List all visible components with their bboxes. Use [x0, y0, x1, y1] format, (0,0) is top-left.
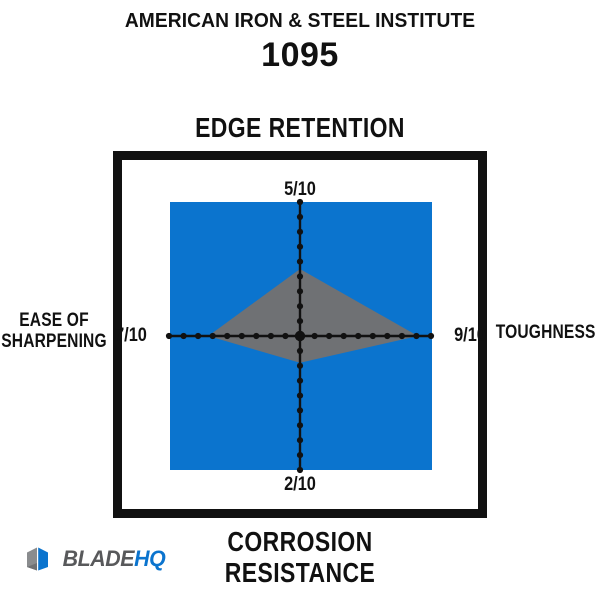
bladehq-logo[interactable]: BLADEHQ: [24, 546, 167, 572]
value-label-corrosion-resistance: 2/10: [257, 475, 343, 495]
bladehq-wordmark: BLADEHQ: [63, 548, 166, 570]
logo-text-blade: BLADE: [63, 546, 135, 571]
chart-origin-dot: [295, 331, 305, 341]
blade-logo-icon: [24, 546, 54, 572]
value-label-ease-of-sharpening: 7/10: [103, 326, 160, 346]
axis-title-ease-of-sharpening: EASE OF SHARPENING: [0, 310, 111, 352]
card-header: AMERICAN IRON & STEEL INSTITUTE 1095: [0, 8, 600, 75]
radar-chart-plot: [113, 151, 487, 518]
axis-title-edge-retention: EDGE RETENTION: [54, 112, 546, 144]
value-label-toughness: 9/10: [442, 326, 499, 346]
axis-title-sharpening-line-2: SHARPENING: [0, 331, 111, 352]
logo-text-hq: HQ: [134, 546, 165, 571]
steel-spec-card: AMERICAN IRON & STEEL INSTITUTE 1095 EDG…: [0, 0, 600, 600]
axis-title-sharpening-line-1: EASE OF: [0, 310, 111, 331]
steel-grade-title: 1095: [0, 35, 600, 75]
organization-title: AMERICAN IRON & STEEL INSTITUTE: [12, 8, 588, 34]
axis-title-toughness: TOUGHNESS: [496, 322, 600, 343]
value-label-edge-retention: 5/10: [257, 180, 343, 200]
